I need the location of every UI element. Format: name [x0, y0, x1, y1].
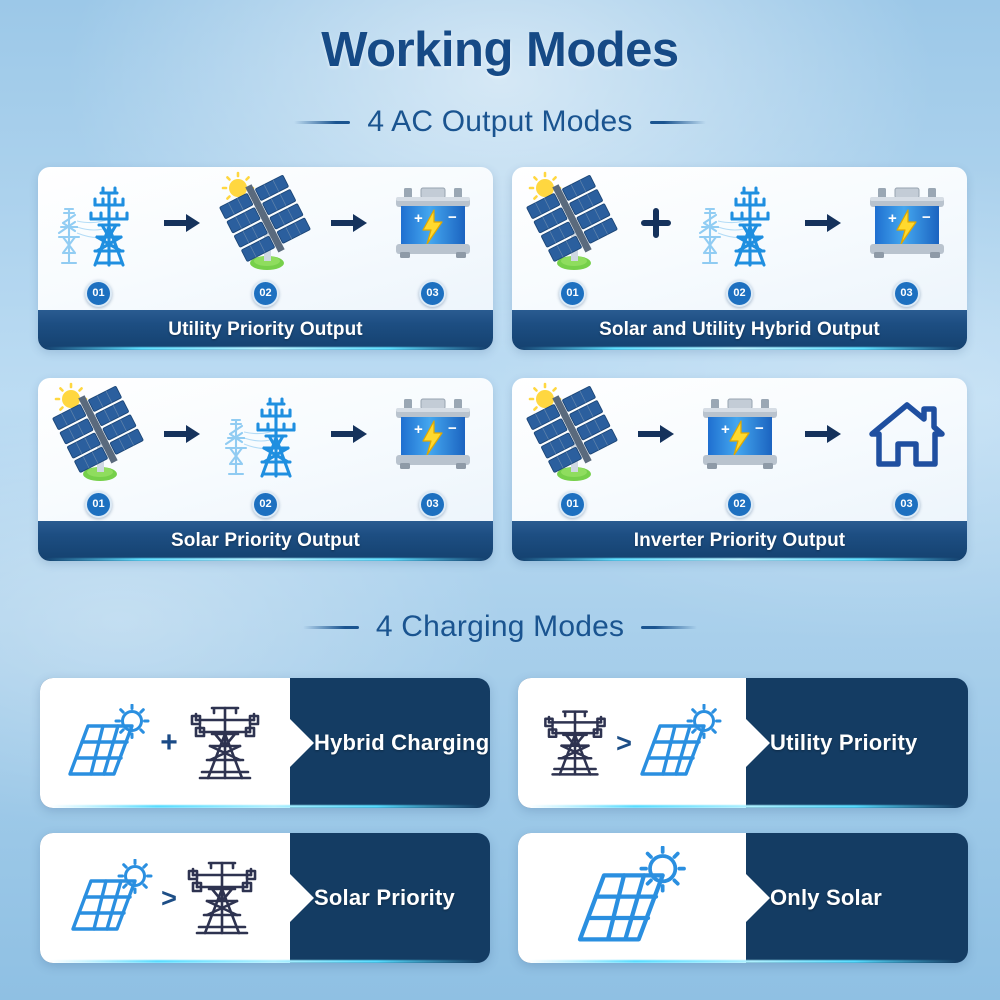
charging-icons: > [518, 678, 746, 808]
step-badge: 02 [252, 280, 279, 307]
arrow-right-icon [159, 423, 205, 445]
plus-icon [633, 208, 679, 238]
solar-panel-icon [45, 380, 153, 488]
plus-operator: + [160, 728, 178, 758]
greater-than-operator: > [616, 730, 632, 757]
arrow-right-icon [800, 423, 846, 445]
ac-mode-footer: Inverter Priority Output [512, 521, 967, 561]
charging-mode-label: Only Solar [770, 833, 968, 963]
rule-right [650, 121, 706, 124]
rule-left [303, 626, 359, 629]
charging-mode-card[interactable]: > Utility P [518, 678, 968, 808]
charging-mode-card[interactable]: > [40, 833, 490, 963]
step-badge: 02 [726, 491, 753, 518]
step-badge: 03 [893, 491, 920, 518]
section-heading-text: 4 Charging Modes [376, 610, 624, 644]
svg-text:+: + [721, 421, 730, 438]
card-glow [528, 805, 958, 808]
chevron-right-icon [290, 719, 314, 767]
charging-icons: + [40, 678, 290, 808]
power-tower-icon [212, 380, 320, 488]
step-badge: 03 [893, 280, 920, 307]
ac-mode-label: Solar Priority Output [171, 530, 360, 552]
ac-mode-label: Utility Priority Output [168, 319, 362, 341]
section-heading-ac-output: 4 AC Output Modes [0, 105, 1000, 139]
chevron-right-icon [746, 874, 770, 922]
step-badge: 01 [85, 280, 112, 307]
battery-icon: + − [379, 380, 487, 488]
ac-mode-label: Inverter Priority Output [634, 530, 845, 552]
step-badge: 02 [726, 280, 753, 307]
ac-mode-flow: + − 01 02 03 [38, 167, 493, 310]
ac-mode-card[interactable]: + − [512, 378, 967, 561]
charging-mode-label: Hybrid Charging [314, 678, 490, 808]
page-title: Working Modes [0, 22, 1000, 78]
svg-text:+: + [888, 210, 897, 227]
solar-panel-line-icon [69, 859, 155, 937]
ac-mode-footer: Solar and Utility Hybrid Output [512, 310, 967, 350]
svg-text:−: − [448, 209, 457, 226]
power-tower-line-icon [540, 705, 610, 781]
solar-panel-line-icon [638, 704, 724, 782]
ac-mode-flow: + − [512, 378, 967, 521]
arrow-right-icon [326, 212, 372, 234]
svg-text:+: + [414, 421, 423, 438]
ac-mode-footer: Solar Priority Output [38, 521, 493, 561]
charging-icons [518, 833, 746, 963]
power-tower-line-icon [186, 702, 264, 784]
section-heading-text: 4 AC Output Modes [367, 105, 632, 139]
svg-text:−: − [755, 420, 764, 437]
charging-mode-label: Utility Priority [770, 678, 968, 808]
solar-panel-line-icon [573, 846, 691, 950]
arrow-right-icon [326, 423, 372, 445]
step-badge: 01 [85, 491, 112, 518]
section-heading-charging: 4 Charging Modes [0, 610, 1000, 644]
rule-left [294, 121, 350, 124]
card-glow [50, 960, 480, 963]
ac-mode-card[interactable]: + − 01 02 03 Solar and Utility Hybrid [512, 167, 967, 350]
ac-mode-flow: + − 01 02 03 [512, 167, 967, 310]
arrow-right-icon [159, 212, 205, 234]
solar-panel-icon [212, 169, 320, 277]
svg-text:−: − [448, 420, 457, 437]
arrow-right-icon [633, 423, 679, 445]
step-badge: 03 [419, 491, 446, 518]
svg-text:−: − [922, 209, 931, 226]
step-badge: 01 [559, 491, 586, 518]
battery-icon: + − [686, 380, 794, 488]
charging-icons: > [40, 833, 290, 963]
charging-mode-label: Solar Priority [314, 833, 490, 963]
solar-panel-line-icon [66, 704, 152, 782]
solar-panel-icon [519, 169, 627, 277]
chevron-right-icon [290, 874, 314, 922]
svg-text:+: + [414, 210, 423, 227]
ac-mode-card[interactable]: + − 01 02 03 Solar Priority Output [38, 378, 493, 561]
step-badge: 02 [252, 491, 279, 518]
ac-mode-label: Solar and Utility Hybrid Output [599, 319, 880, 341]
battery-icon: + − [853, 169, 961, 277]
ac-mode-flow: + − 01 02 03 [38, 378, 493, 521]
power-tower-line-icon [183, 857, 261, 939]
power-tower-icon [45, 169, 153, 277]
ac-mode-footer: Utility Priority Output [38, 310, 493, 350]
power-tower-icon [686, 169, 794, 277]
greater-than-operator: > [161, 885, 177, 912]
battery-icon: + − [379, 169, 487, 277]
ac-mode-card[interactable]: + − 01 02 03 Utility Priority Output [38, 167, 493, 350]
step-badge: 03 [419, 280, 446, 307]
solar-panel-icon [519, 380, 627, 488]
step-badge: 01 [559, 280, 586, 307]
arrow-right-icon [800, 212, 846, 234]
infographic-canvas: Working Modes 4 AC Output Modes [0, 0, 1000, 1000]
house-icon [853, 380, 961, 488]
charging-mode-card[interactable]: Only Solar [518, 833, 968, 963]
rule-right [641, 626, 697, 629]
chevron-right-icon [746, 719, 770, 767]
card-glow [528, 960, 958, 963]
card-glow [50, 805, 480, 808]
charging-mode-card[interactable]: + [40, 678, 490, 808]
